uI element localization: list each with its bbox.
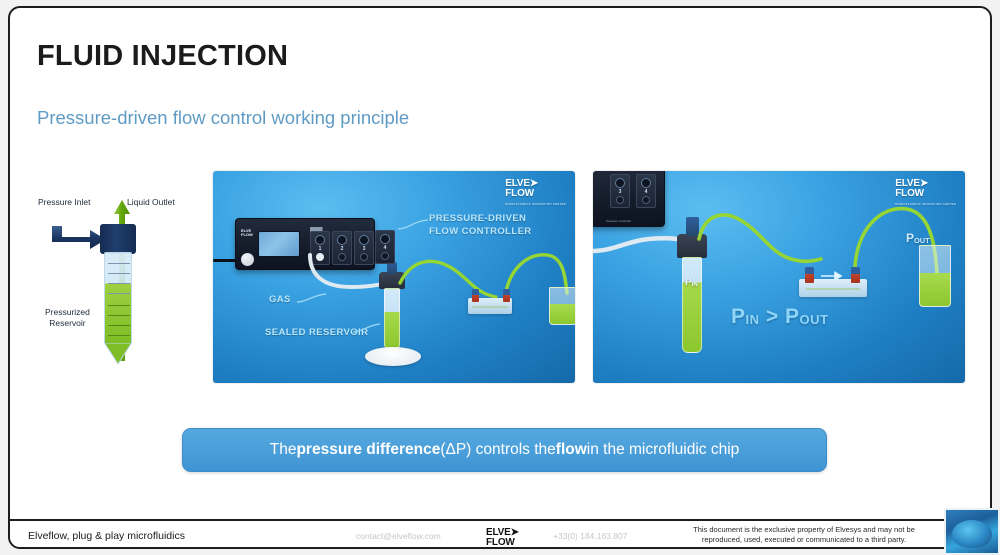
label-gas: GAS [269,293,291,306]
leader-line-controller [398,217,430,231]
webcam-video-overlay[interactable] [944,508,1000,555]
device-knob [241,253,254,266]
elveflow-logo-bottom: FLOW [895,188,924,199]
footer-legal-notice: This document is the exclusive property … [674,525,934,545]
label-flow-controller: PRESSURE-DRIVEN FLOW CONTROLLER [429,212,532,238]
footer-email[interactable]: contact@elveflow.com [356,531,441,541]
port-hole-icon [315,235,325,245]
port-hole-icon [337,235,347,245]
elveflow-logo-panel1: ELVE➤ FLOW MICROFLUIDICS INNOVATION CENT… [505,179,566,209]
reservoir-label-line1: Pressurized [45,307,90,317]
device-caption: Pressure controller [606,219,631,223]
label-p-in: PIN [685,277,698,288]
page-title: FLUID INJECTION [37,40,288,73]
collection-beaker [549,287,575,325]
device-screen [258,231,300,257]
reservoir-cap [100,224,136,254]
reservoir-label-line2: Reservoir [49,318,85,328]
port-hole-icon [359,235,369,245]
port-plug [616,196,624,204]
reservoir-schematic: Pressure Inlet Liquid Outlet [30,186,200,381]
slide-footer: Elveflow, plug & play microfluidics cont… [10,521,990,549]
chip-channel [472,306,507,308]
device-port-4: 4 [636,174,656,208]
device-port-3: 3 [610,174,630,208]
footer-tagline: Elveflow, plug & play microfluidics [28,530,185,542]
illustration-panel-pressure-difference: ELVE➤ FLOW MICROFLUIDICS INNOVATION CENT… [593,171,965,383]
reservoir-tube [104,252,132,344]
banner-bold-1: pressure difference [296,441,440,459]
pressure-controller-device-partial: 3 4 Pressure controller [593,171,665,227]
banner-bold-2: flow [556,441,587,459]
chip-inlet-connector [472,289,479,302]
power-cord [213,259,237,262]
banner-text-3: in the microfluidic chip [587,441,739,459]
port-hole-icon [615,178,625,188]
pressure-inequality-formula: PIN > POUT [731,305,829,329]
elveflow-logo-bottom: FLOW [505,188,534,199]
leader-line-reservoir [353,323,381,335]
banner-text-1: The [270,441,297,459]
footer-phone: +33(0) 184.163.807 [553,531,627,541]
collection-beaker [919,245,951,307]
banner-text-2: (ΔP) controls the [440,441,555,459]
chip-inlet-connector [805,267,814,283]
device-logo: ELVE FLOW [241,229,253,237]
chip-channel [806,288,860,290]
port-plug [381,252,389,260]
schematic-label-pressure-inlet: Pressure Inlet [38,197,90,207]
port-hole-icon [641,178,651,188]
flow-direction-arrow-icon [821,271,847,281]
port-plug [642,196,650,204]
leader-line-gas [297,293,327,305]
inequality-operator: > [766,305,779,328]
elveflow-logo-sub: MICROFLUIDICS INNOVATION CENTER [505,200,566,210]
presentation-slide: FLUID INJECTION Pressure-driven flow con… [8,6,992,549]
illustration-panel-flow-controller: ELVE➤ FLOW MICROFLUIDICS INNOVATION CENT… [213,171,575,383]
elveflow-logo-footer: ELVE➤ FLOW MICROFLUIDICS INNOVATION CENT… [486,528,540,549]
gas-tubing [593,233,679,259]
port-hole-icon [380,234,390,244]
label-p-out: POUT [906,231,930,245]
vial-stand [365,347,421,366]
page-subtitle: Pressure-driven flow control working pri… [37,107,409,129]
reservoir-tip [104,343,132,365]
chip-outlet-connector [851,267,860,283]
webcam-person-silhouette [952,520,992,548]
device-port-4: 4 [375,230,395,264]
schematic-label-liquid-outlet: Liquid Outlet [127,197,175,207]
schematic-label-reservoir: Pressurized Reservoir [45,307,90,329]
key-message-banner: The pressure difference (ΔP) controls th… [182,428,827,472]
chip-outlet-connector [503,289,510,302]
